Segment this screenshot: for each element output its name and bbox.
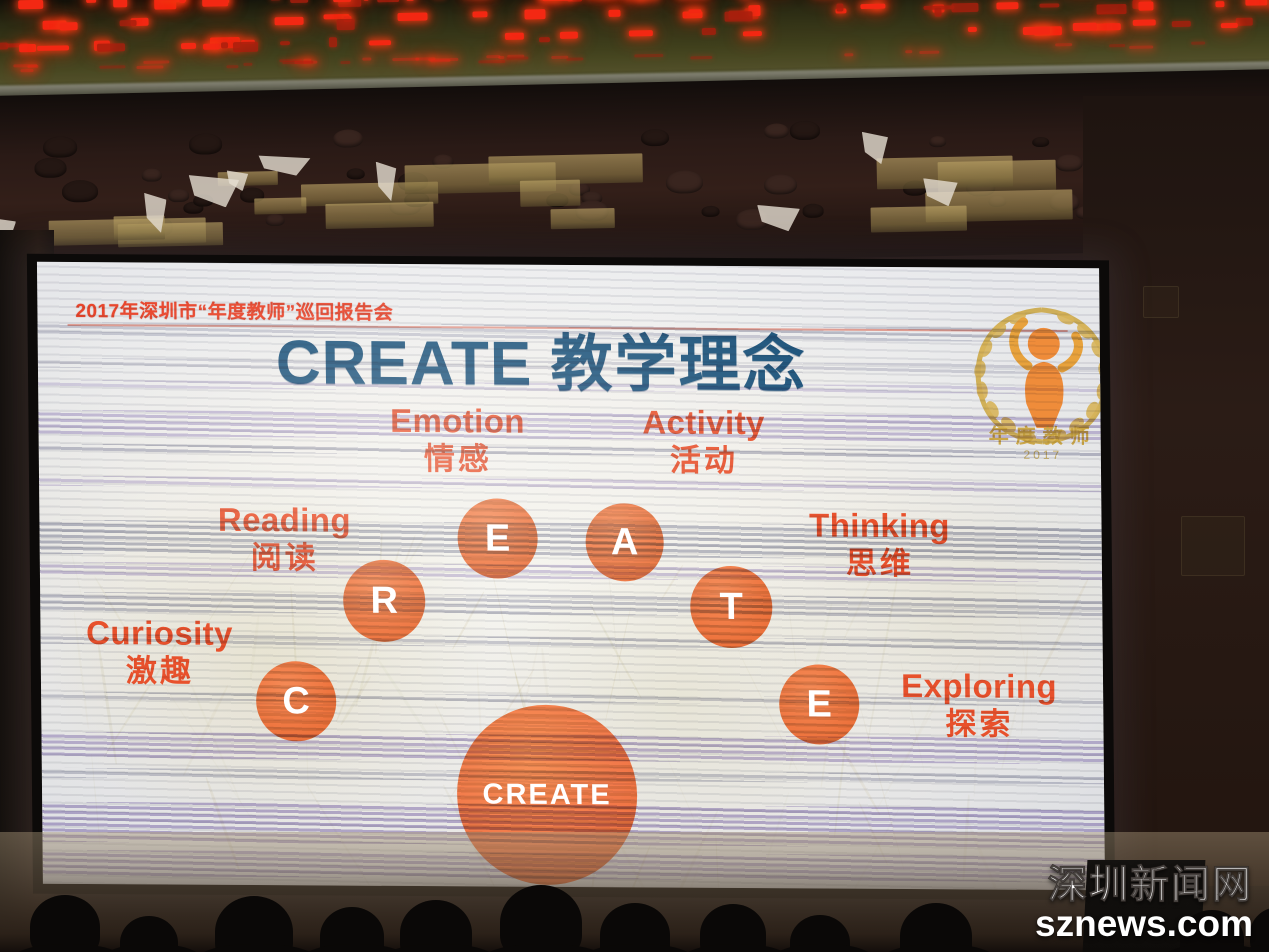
concept-curiosity-cn: 激趣 [65,653,255,691]
ceiling-led [1245,0,1268,6]
ceiling-led [1191,42,1205,45]
ceiling-led [280,41,290,45]
concept-activity: Activity 活动 [608,403,799,480]
seat-silhouette [266,214,285,226]
letter-bubble-t: T [690,566,773,648]
ceiling-led [18,0,43,9]
ceiling-led [377,0,399,3]
ceiling-led [430,59,451,62]
concept-reading-cn: 阅读 [190,540,380,578]
ceiling-led [1023,26,1050,35]
title-english: CREATE [276,328,533,399]
ceiling-led [362,57,371,60]
ceiling-led [1133,20,1156,26]
concept-activity-en: Activity [608,403,798,443]
ceiling-led [100,66,125,69]
title-chinese: 教学理念 [550,330,807,401]
ceiling-led [202,43,220,49]
ceiling-led [1236,18,1253,26]
concept-emotion-en: Emotion [362,402,552,442]
seat-silhouette [764,123,789,139]
letter-bubble-e2: E [779,664,860,744]
ceiling-led [274,16,303,25]
letter-bubble-e1: E [457,498,538,578]
ceiling-led [369,40,391,45]
photo-scene: 2017年深圳市“年度教师”巡回报告会 CREATE 教学理念 [0,0,1269,952]
ceiling-led [233,41,258,52]
seat-silhouette [168,189,189,202]
ceiling-led [243,63,252,66]
seat-silhouette [347,168,365,179]
ceiling-led [478,60,505,64]
watermark-english: sznews.com [1035,905,1253,944]
ceiling-led [1072,22,1096,30]
balcony-desk-panel [551,208,615,229]
seat-silhouette [43,137,77,158]
ceiling-led [406,0,414,1]
ceiling-led [951,2,978,12]
slide-content: 2017年深圳市“年度教师”巡回报告会 CREATE 教学理念 [37,262,1105,890]
ceiling-led [1129,45,1153,48]
seat-silhouette [62,179,98,202]
ceiling-led [1171,21,1191,27]
ceiling-led [634,54,663,58]
ceiling-led [137,66,164,70]
concept-curiosity-en: Curiosity [64,614,254,654]
audience-head [500,885,582,952]
ceiling-led [702,28,717,35]
ceiling-led [1109,45,1125,48]
concept-exploring: Exploring 探索 [869,667,1090,744]
ceiling-led [181,42,196,49]
concept-thinking-cn: 思维 [780,545,980,583]
ceiling-led [363,0,369,1]
ceiling-led [120,20,137,26]
ceiling-led [270,0,281,1]
concept-reading: Reading 阅读 [189,501,380,578]
ceiling-led [97,43,125,52]
ceiling-led [688,9,701,14]
wall-panel-small [1143,286,1179,318]
ceiling-led [336,19,355,30]
ceiling-led [1094,23,1121,30]
watermark: 深圳新闻网 sznews.com [1035,866,1253,944]
ceiling-led [143,60,170,64]
seat-silhouette [790,121,820,140]
seat-silhouette [1032,137,1049,148]
ceiling-led [566,58,584,61]
seat-silhouette [702,205,720,216]
ceiling-led [1096,4,1126,15]
seat-silhouette [333,129,364,148]
seat-silhouette [141,169,161,182]
ceiling-led [113,0,127,8]
logo-caption: 年度教师 [959,419,1106,449]
ceiling-led [290,0,308,3]
ceiling-led [329,37,337,47]
ceiling-led [905,50,913,53]
ceiling-led [837,4,843,12]
letter-bubble-c: C [256,661,337,741]
letter-bubble-a-label: A [611,521,639,564]
projection-screen-frame: 2017年深圳市“年度教师”巡回报告会 CREATE 教学理念 [27,254,1115,901]
seat-silhouette [188,134,221,155]
ceiling-led [1221,23,1238,28]
ceiling-led [19,44,37,52]
logo-year: 2017 [959,447,1105,462]
ceiling-led [1138,2,1153,11]
ceiling-led [559,32,578,39]
projection-screen: 2017年深圳市“年度教师”巡回报告会 CREATE 教学理念 [37,262,1105,890]
ceiling-led [524,9,545,19]
concept-exploring-cn: 探索 [869,706,1089,744]
concept-emotion: Emotion 情感 [362,402,553,479]
ceiling-led [226,65,238,68]
ceiling-led [334,0,352,2]
seat-silhouette [1055,154,1083,172]
ceiling-led [724,11,752,22]
page-title: CREATE 教学理念 [275,311,806,404]
ceiling-led [37,45,69,50]
ceiling-led [21,69,33,72]
ceiling-led [608,10,620,18]
concept-thinking: Thinking 思维 [779,506,980,583]
ceiling-led [392,57,420,61]
ceiling-led [27,65,38,68]
ceiling-led [202,0,228,7]
ceiling-led [505,32,524,39]
balcony-desk-panel [520,180,580,207]
concept-curiosity: Curiosity 激趣 [64,614,255,691]
ceiling-led [506,56,528,59]
ceiling-led [341,60,350,63]
ceiling-led [690,56,713,59]
balcony-seating [0,69,1269,276]
seat-silhouette [802,204,824,218]
balcony-desk-panel [325,201,434,229]
ceiling-led [539,37,549,42]
concept-emotion-cn: 情感 [363,441,553,479]
ceiling-led [629,31,653,37]
ceiling-led [398,12,428,21]
ceiling-led [996,2,1018,9]
concept-activity-cn: 活动 [609,442,799,480]
seat-silhouette [34,158,67,179]
watermark-chinese: 深圳新闻网 [1035,866,1253,905]
concept-reading-en: Reading [189,501,379,541]
center-bubble-label: CREATE [482,778,611,812]
seat-silhouette [929,136,946,147]
letter-bubble-r-label: R [370,579,398,622]
letter-bubble-c-label: C [282,680,310,723]
concept-thinking-en: Thinking [779,506,979,546]
balcony-desk-panel [254,198,306,214]
ceiling-led [844,53,853,56]
ceiling-led [1055,43,1072,46]
ceiling-led [221,42,228,49]
wall-panel-large [1181,516,1245,576]
ceiling-led [967,27,977,33]
ceiling-led [934,7,941,17]
balcony-desk-panel [870,206,966,233]
ceiling-led [472,11,487,17]
letter-bubble-e1-label: E [485,517,511,560]
letter-bubble-t-label: T [719,585,743,628]
seat-silhouette [764,174,798,195]
ceiling-led [179,0,185,4]
ceiling-led [1039,3,1059,8]
ceiling-led [282,61,314,65]
figure-icon [1014,322,1080,428]
seat-silhouette [641,129,670,147]
letter-bubble-e2-label: E [806,683,832,726]
letter-bubble-a: A [585,503,664,581]
concept-exploring-en: Exploring [869,667,1089,707]
ceiling-led [1216,1,1225,7]
ceiling-led [86,0,96,3]
ceiling-led [743,31,762,36]
ceiling-led [59,23,77,31]
ceiling-led [0,43,8,49]
seat-silhouette [666,170,704,194]
ceiling-led [919,51,939,54]
ceiling-led [860,3,885,9]
